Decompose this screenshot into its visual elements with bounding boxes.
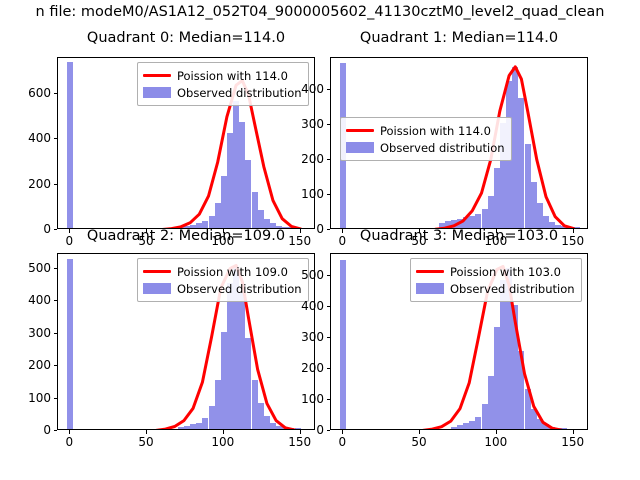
y-tick-mark: [327, 306, 331, 307]
y-tick-label: 300: [282, 330, 324, 344]
y-tick-mark: [327, 368, 331, 369]
legend-entry-fit: Poission with 103.0: [416, 263, 575, 280]
x-tick-mark: [496, 430, 497, 434]
subplot-title-3: Quadrant 3: Median=103.0: [330, 228, 588, 244]
y-tick-label: 200: [282, 361, 324, 375]
figure: n file: modeM0/AS1A12_052T04_9000005602_…: [0, 0, 640, 480]
legend-line-swatch-icon: [416, 270, 444, 273]
y-tick-mark: [327, 399, 331, 400]
legend-patch-swatch-icon: [416, 283, 444, 294]
x-tick-label: 0: [338, 435, 346, 449]
x-tick-label: 150: [561, 435, 584, 449]
x-tick-mark: [419, 430, 420, 434]
y-tick-label: 0: [282, 423, 324, 437]
subplot-3: Quadrant 3: Median=103.00501001500100200…: [0, 0, 640, 480]
x-tick-label: 50: [411, 435, 426, 449]
y-tick-mark: [327, 430, 331, 431]
y-tick-label: 100: [282, 392, 324, 406]
x-tick-label: 100: [484, 435, 507, 449]
legend-3: Poission with 103.0Observed distribution: [410, 258, 582, 302]
x-tick-mark: [342, 430, 343, 434]
y-tick-mark: [327, 275, 331, 276]
legend-label: Poission with 103.0: [450, 265, 561, 279]
y-tick-mark: [327, 337, 331, 338]
x-tick-mark: [573, 430, 574, 434]
y-tick-label: 500: [282, 268, 324, 282]
y-tick-label: 400: [282, 299, 324, 313]
legend-entry-observed: Observed distribution: [416, 280, 575, 297]
legend-label: Observed distribution: [450, 282, 575, 296]
